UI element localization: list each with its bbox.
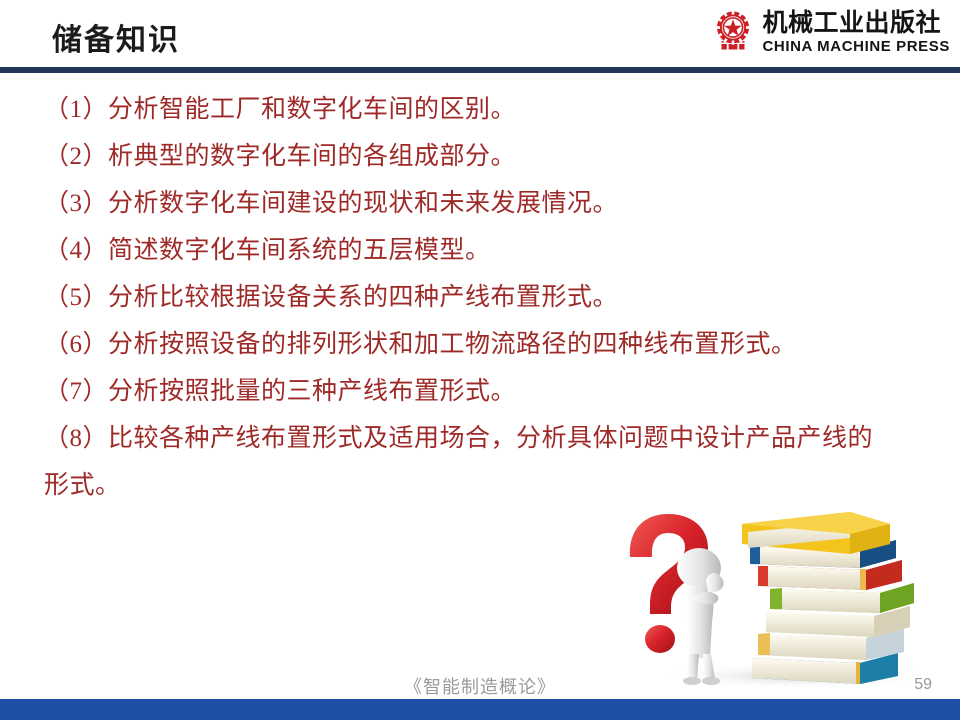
list-item: （3）分析数字化车间建设的现状和未来发展情况。 xyxy=(44,180,934,227)
footer-book-title: 《智能制造概论》 xyxy=(0,673,960,699)
publisher-logo-text: 机械工业出版社 CHINA MACHINE PRESS xyxy=(762,11,950,54)
page-title: 储备知识 xyxy=(52,22,180,60)
list-item: （2）析典型的数字化车间的各组成部分。 xyxy=(44,133,934,180)
header-divider xyxy=(0,67,960,73)
slide: 储备知识 xyxy=(0,0,960,720)
list-item: （5）分析比较根据设备关系的四种产线布置形式。 xyxy=(44,274,934,321)
list-item: （1）分析智能工厂和数字化车间的区别。 xyxy=(44,86,934,133)
publisher-name-en: CHINA MACHINE PRESS xyxy=(762,39,950,54)
china-machine-press-emblem-icon xyxy=(712,9,754,55)
question-list: （1）分析智能工厂和数字化车间的区别。 （2）析典型的数字化车间的各组成部分。 … xyxy=(44,86,934,509)
list-item: （8）比较各种产线布置形式及适用场合，分析具体问题中设计产品产线的 xyxy=(44,415,934,462)
publisher-logo: 机械工业出版社 CHINA MACHINE PRESS xyxy=(712,6,950,58)
thinking-figure xyxy=(677,548,724,685)
list-item: （4）简述数字化车间系统的五层模型。 xyxy=(44,227,934,274)
question-mark-dot xyxy=(645,625,675,653)
footer-bar xyxy=(0,699,960,720)
list-item: （6）分析按照设备的排列形状和加工物流路径的四种线布置形式。 xyxy=(44,321,934,368)
slide-header: 储备知识 xyxy=(0,0,960,73)
publisher-name-cn: 机械工业出版社 xyxy=(762,11,950,36)
question-mark-and-book-stack-image xyxy=(598,462,960,690)
page-number: 59 xyxy=(914,676,932,694)
list-item: （7）分析按照批量的三种产线布置形式。 xyxy=(44,368,934,415)
